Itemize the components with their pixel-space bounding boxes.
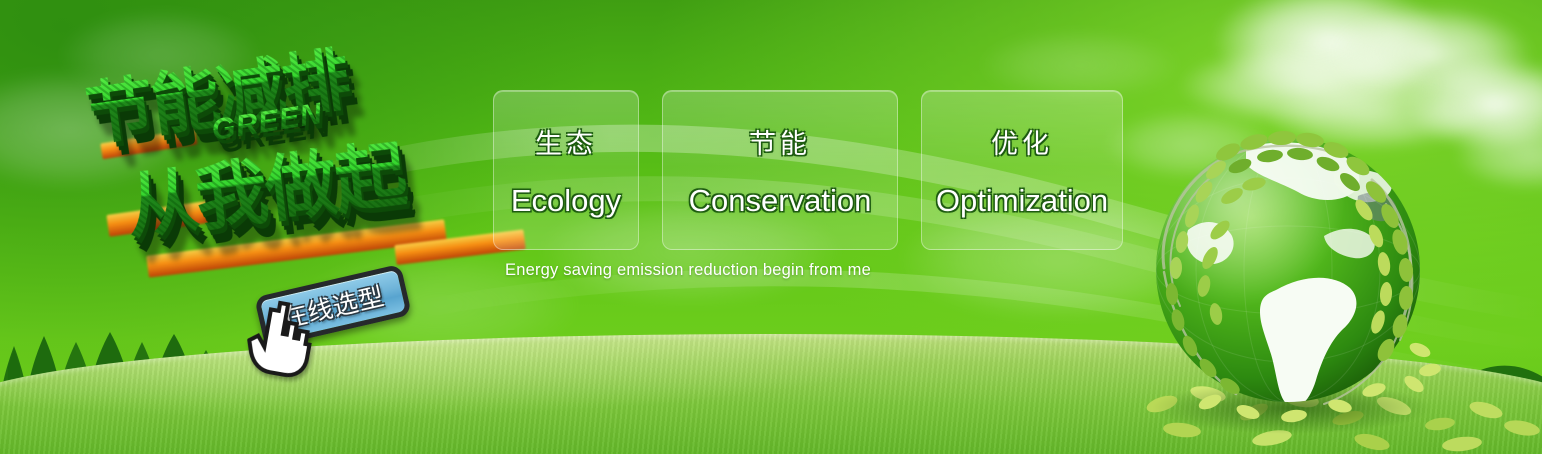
green-energy-banner: 节能减排 GREEN 从我做起 生态 Ecology 节能 Conservati…	[0, 0, 1542, 454]
feature-card-conservation-en: Conservation	[689, 183, 872, 219]
feature-card-optimization-en: Optimization	[936, 183, 1108, 219]
feature-card-ecology-cn: 生态	[535, 122, 597, 161]
hero-title-3d: 节能减排 GREEN 从我做起	[76, 9, 496, 293]
feature-cards: 生态 Ecology 节能 Conservation 优化 Optimizati…	[493, 90, 1123, 250]
feature-card-optimization-cn: 优化	[991, 122, 1053, 161]
feature-card-ecology[interactable]: 生态 Ecology	[493, 90, 639, 250]
feature-card-conservation-cn: 节能	[749, 122, 811, 161]
tagline: Energy saving emission reduction begin f…	[505, 261, 871, 280]
feature-card-ecology-en: Ecology	[511, 183, 621, 219]
leafy-globe-illustration	[1128, 118, 1448, 438]
feature-card-conservation[interactable]: 节能 Conservation	[662, 90, 898, 250]
feature-card-optimization[interactable]: 优化 Optimization	[921, 90, 1123, 250]
pointing-hand-cursor-icon	[242, 295, 324, 384]
cta-group: 在线选型	[258, 274, 418, 348]
